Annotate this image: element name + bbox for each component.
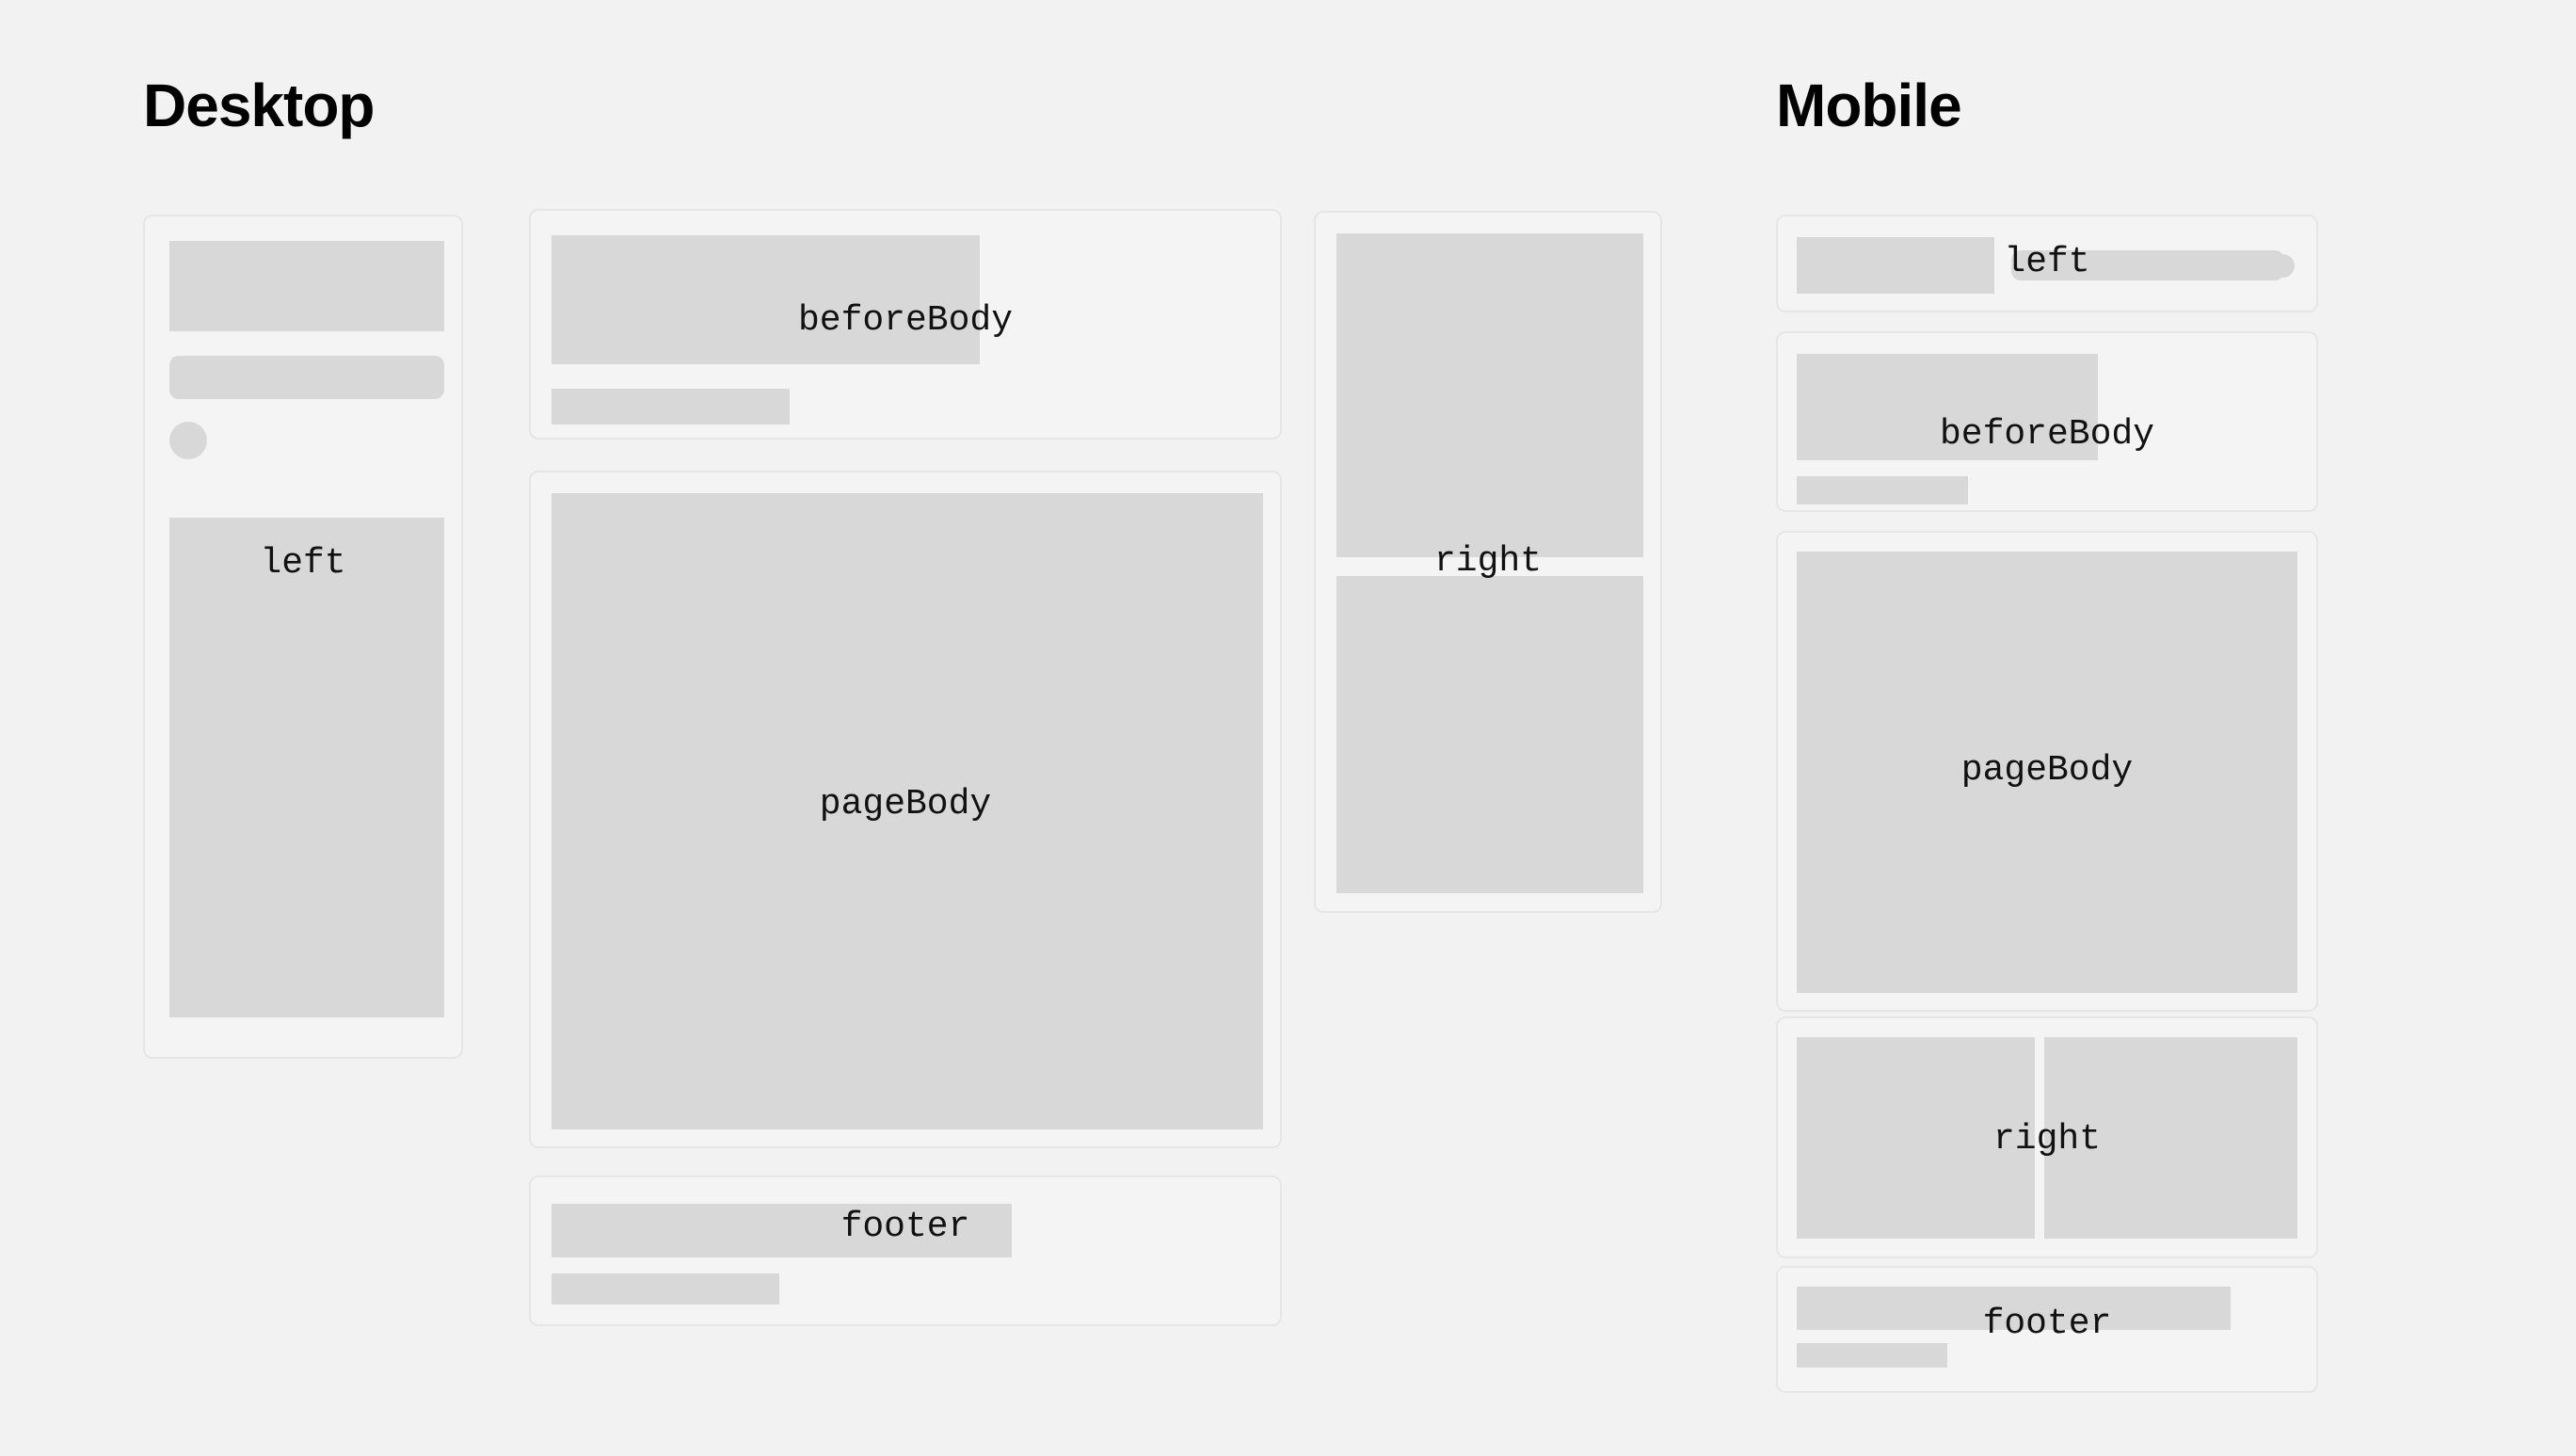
- layout-preview-stage: Desktop left beforeBody pageBody right f…: [0, 0, 2576, 1456]
- mobile-section-title: Mobile: [1776, 75, 1961, 136]
- sidebar-block-tall: [169, 518, 444, 1017]
- mobile-pagebody-block: [1797, 552, 2297, 993]
- beforebody-block-large: [552, 235, 980, 364]
- desktop-pagebody-region-card[interactable]: [529, 471, 1282, 1148]
- mobile-pagebody-region-card[interactable]: [1776, 531, 2318, 1012]
- desktop-beforebody-region-card[interactable]: [529, 209, 1282, 440]
- mobile-footer-block: [1797, 1287, 2231, 1330]
- mobile-left-region-card[interactable]: [1776, 215, 2318, 312]
- mobile-right-region-card[interactable]: [1776, 1016, 2318, 1258]
- desktop-right-region-card[interactable]: [1314, 211, 1662, 913]
- mobile-right-block-right: [2044, 1037, 2297, 1239]
- sidebar-block-bar: [169, 356, 444, 399]
- mobile-footer-bar: [1797, 1343, 1947, 1368]
- right-block-bottom: [1336, 576, 1643, 893]
- mobile-beforebody-bar: [1797, 476, 1968, 504]
- sidebar-block-large: [169, 241, 444, 331]
- mobile-beforebody-block: [1797, 354, 2098, 460]
- footer-block-wide: [552, 1204, 1012, 1257]
- mobile-right-block-left: [1797, 1037, 2035, 1239]
- desktop-footer-region-card[interactable]: [529, 1176, 1282, 1326]
- beforebody-block-bar: [552, 389, 790, 424]
- mobile-left-block: [1797, 237, 1994, 294]
- desktop-left-region-card[interactable]: [143, 215, 463, 1059]
- mobile-beforebody-region-card[interactable]: [1776, 331, 2318, 512]
- desktop-section-title: Desktop: [143, 75, 375, 136]
- right-block-top: [1336, 233, 1643, 557]
- mobile-left-bar: [2011, 250, 2284, 280]
- mobile-footer-region-card[interactable]: [1776, 1266, 2318, 1393]
- footer-block-bar: [552, 1273, 779, 1304]
- pagebody-block-square: [552, 493, 1263, 1129]
- sidebar-avatar-dot: [169, 422, 207, 459]
- mobile-left-dot: [2271, 254, 2295, 278]
